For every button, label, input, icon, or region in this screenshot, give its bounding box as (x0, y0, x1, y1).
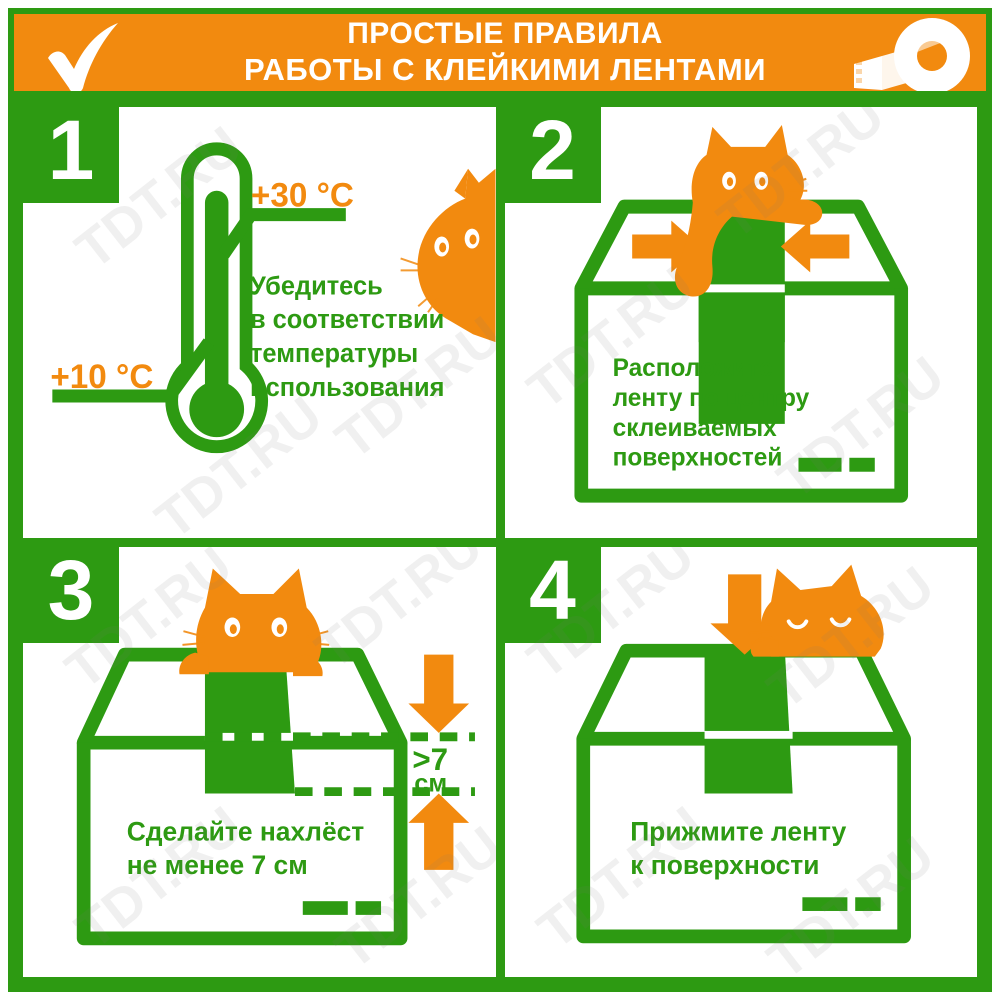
cat-sleepy (748, 564, 883, 656)
caption-line: использования (250, 374, 445, 402)
cat-front-facing (179, 568, 329, 676)
step-number-badge-1: 1 (23, 107, 119, 203)
caption-line: ленту по центру (612, 385, 809, 412)
caption-line: склеиваемых (612, 415, 776, 442)
checkmark-icon (38, 20, 134, 94)
tape-roll-icon (852, 16, 978, 96)
arrow-up-icon (408, 793, 469, 869)
temp-high-label: +30 °C (251, 177, 354, 214)
tape-strip (205, 652, 295, 793)
temp-low-label: +10 °C (50, 359, 153, 396)
thermometer-icon (172, 149, 262, 447)
step-panel-2[interactable]: 2 TDT.RU TDT.RU TDT.RU (505, 107, 978, 538)
header-underline (14, 91, 986, 98)
title-line-1: ПРОСТЫЕ ПРАВИЛА (164, 16, 846, 52)
page-title: ПРОСТЫЕ ПРАВИЛА РАБОТЫ С КЛЕЙКИМИ ЛЕНТАМ… (164, 16, 846, 88)
caption-line: Сделайте нахлёст (127, 816, 365, 846)
box-label-marks (798, 458, 874, 472)
caption-line: в соответствии (250, 306, 444, 334)
step-number-badge-3: 3 (23, 547, 119, 643)
box-label-marks (802, 897, 880, 911)
step-panel-3[interactable]: 3 TDT.RU TDT.RU TDT.RU TDT.RU (23, 547, 496, 978)
caption-line: Прижмите ленту (630, 816, 846, 846)
caption-line: не менее 7 см (127, 849, 308, 879)
arrow-down-icon (408, 654, 469, 732)
step-number-badge-4: 4 (505, 547, 601, 643)
caption-line: Расположите (612, 355, 772, 382)
caption-line: температуры (250, 340, 418, 368)
step-number-badge-2: 2 (505, 107, 601, 203)
caption-line: поверхностей (612, 445, 782, 472)
measure-line: см (414, 769, 447, 797)
tape-strip (704, 648, 792, 793)
caption-line: к поверхности (630, 849, 819, 879)
step-panel-4[interactable]: 4 TDT.RU TDT.RU TDT.RU TDT.RU (505, 547, 978, 978)
box-label-marks (303, 901, 381, 915)
poster-header: ПРОСТЫЕ ПРАВИЛА РАБОТЫ С КЛЕЙКИМИ ЛЕНТАМ… (14, 14, 986, 98)
step-panel-1[interactable]: 1 TDT.RU TDT.RU TDT.RU (23, 107, 496, 538)
caption-line: Убедитесь (250, 272, 383, 300)
poster-frame: ПРОСТЫЕ ПРАВИЛА РАБОТЫ С КЛЕЙКИМИ ЛЕНТАМ… (8, 8, 992, 992)
title-line-2: РАБОТЫ С КЛЕЙКИМИ ЛЕНТАМИ (164, 52, 846, 88)
steps-grid: 1 TDT.RU TDT.RU TDT.RU (14, 98, 986, 986)
infographic-poster: ПРОСТЫЕ ПРАВИЛА РАБОТЫ С КЛЕЙКИМИ ЛЕНТАМ… (0, 0, 1000, 1000)
arrow-left-icon (780, 221, 848, 273)
